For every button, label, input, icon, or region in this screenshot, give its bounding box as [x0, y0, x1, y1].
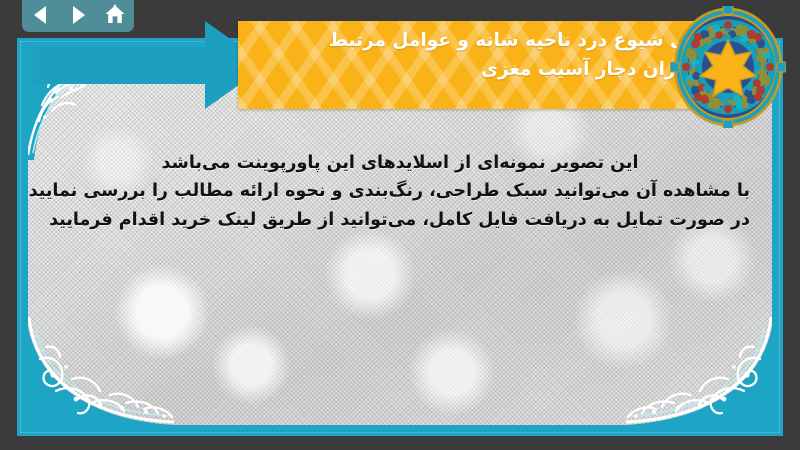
body-line-1: این تصویر نمونه‌ای از اسلایدهای این پاور…	[50, 149, 750, 177]
prev-triangle-icon	[32, 5, 50, 25]
slide-body-text: این تصویر نمونه‌ای از اسلایدهای این پاور…	[50, 149, 750, 234]
prev-slide-button[interactable]	[27, 2, 55, 28]
body-line-3: در صورت تمایل به دریافت فایل کامل، می‌تو…	[50, 206, 750, 234]
next-slide-button[interactable]	[64, 2, 92, 28]
body-line-2: با مشاهده آن می‌توانید سبک طراحی، رنگ‌بن…	[50, 177, 750, 205]
home-icon	[104, 4, 126, 26]
slide-viewer: این تصویر نمونه‌ای از اسلایدهای این پاور…	[0, 0, 800, 450]
next-triangle-icon	[69, 5, 87, 25]
navigation-bar	[22, 0, 134, 32]
home-button[interactable]	[101, 2, 129, 28]
arabesque-corner-bottom-left-icon	[28, 307, 176, 425]
arabesque-corner-bottom-right-icon	[624, 307, 772, 425]
persian-medallion-icon	[670, 6, 786, 128]
